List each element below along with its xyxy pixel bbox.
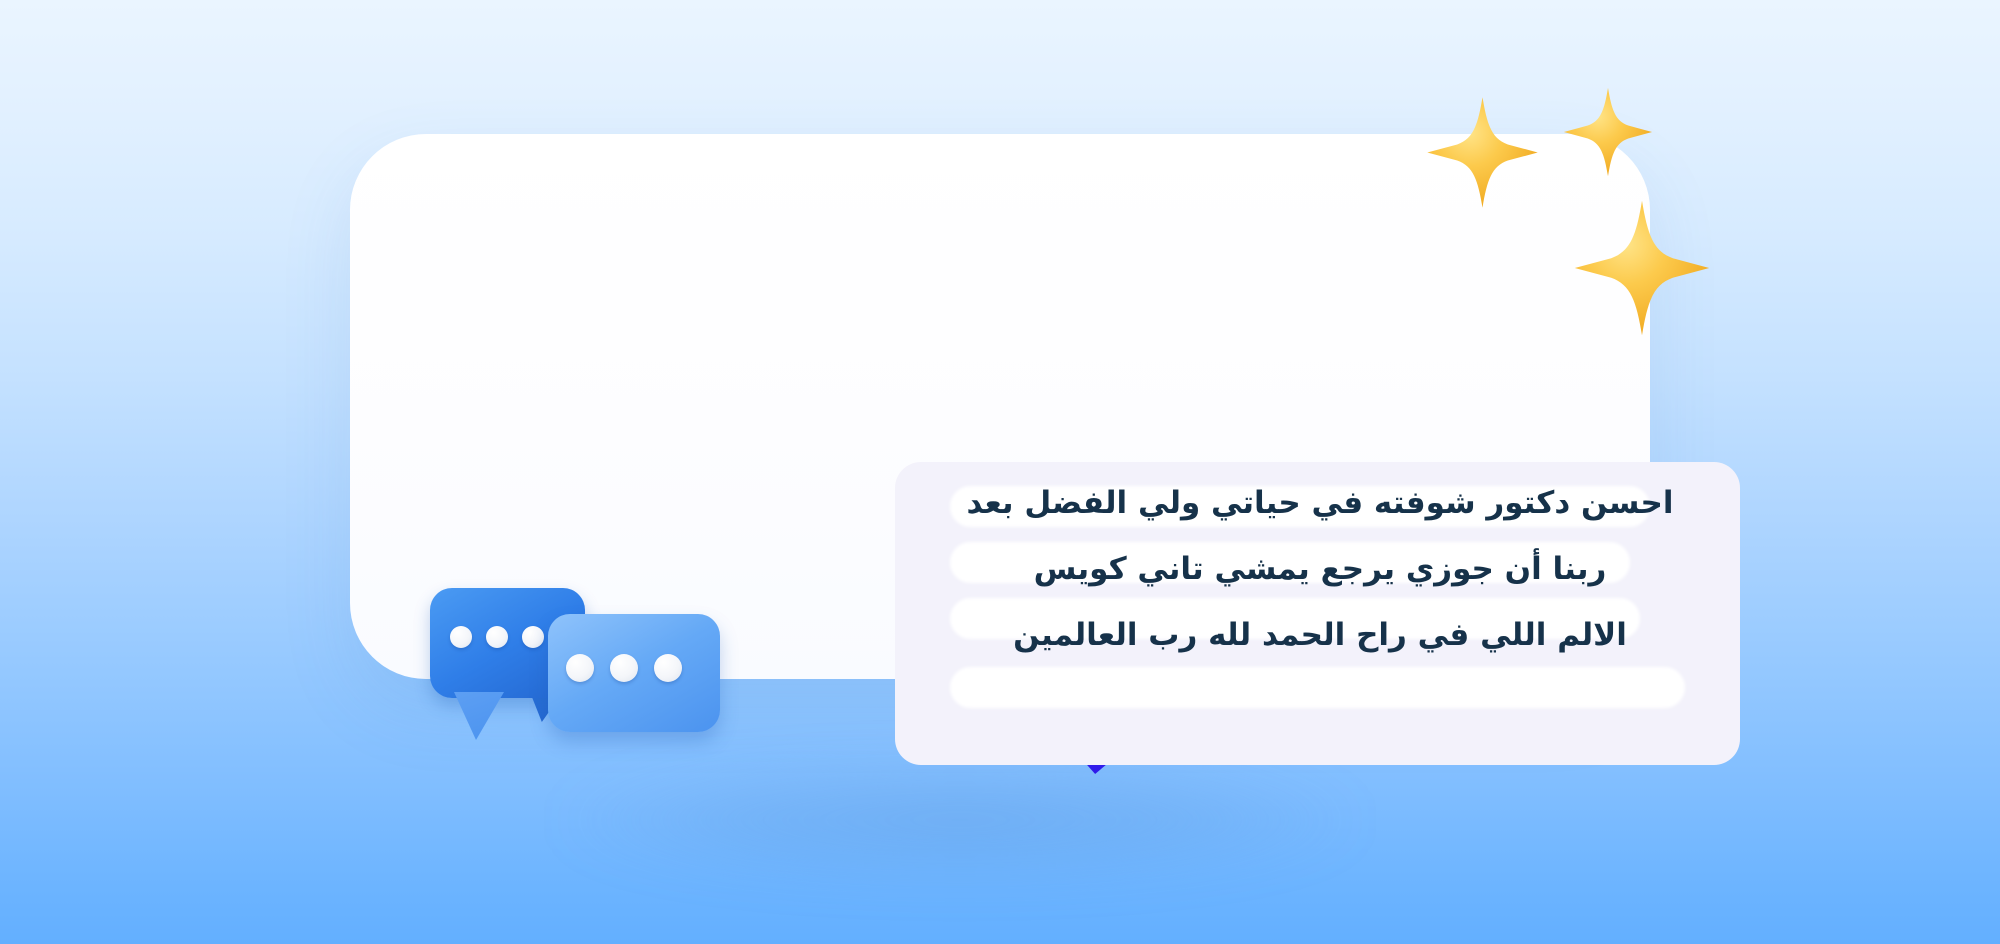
sparkle-top-icon — [1562, 86, 1654, 178]
dot-1 — [566, 654, 594, 682]
sparkle-left-icon — [1425, 95, 1540, 210]
chat-bubble-front-icon — [548, 614, 720, 732]
chat-bubble-back-dots — [450, 626, 544, 648]
dot-2 — [486, 626, 508, 648]
quote-line-2: ربنا أن جوزي يرجع يمشي تاني كويس — [910, 536, 1730, 602]
sparkle-bottom-icon — [1572, 198, 1712, 338]
chat-bubble-front-dots — [566, 654, 682, 682]
dot-1 — [450, 626, 472, 648]
testimonial-graphic: احسن دكتور شوفته في حياتي ولي الفضل بعد … — [0, 0, 2000, 944]
testimonial-quote: احسن دكتور شوفته في حياتي ولي الفضل بعد … — [910, 470, 1730, 668]
card-drop-shadow — [560, 760, 1360, 880]
quote-line-1: احسن دكتور شوفته في حياتي ولي الفضل بعد — [910, 470, 1730, 536]
dot-2 — [610, 654, 638, 682]
quote-line-3: الالم اللي في راح الحمد لله رب العالمين — [910, 602, 1730, 668]
dot-3 — [522, 626, 544, 648]
chat-bubble-front-tail-icon — [454, 692, 504, 740]
dot-3 — [654, 654, 682, 682]
skeleton-bar-4 — [950, 667, 1685, 708]
chat-bubbles-icon — [430, 588, 740, 768]
